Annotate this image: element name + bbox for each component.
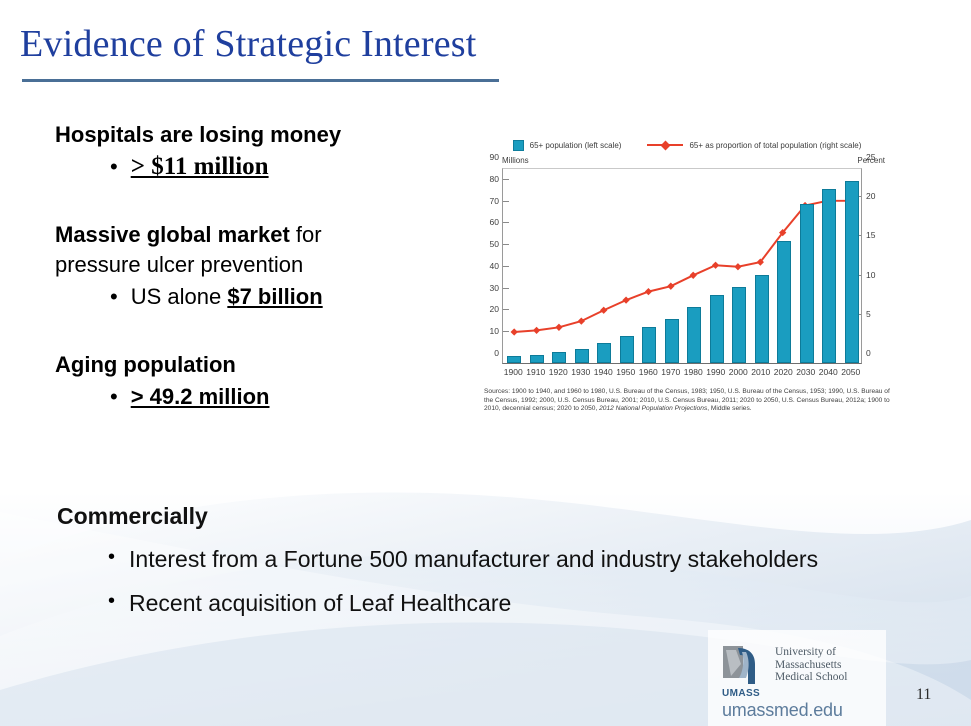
chart-bar [597, 343, 611, 363]
bullet-dot-icon: • [110, 382, 118, 412]
chart-bar [620, 336, 634, 363]
line-marker [667, 283, 674, 290]
title-underline-rule [22, 79, 499, 82]
bullet-item: • > $11 million [0, 152, 462, 182]
x-axis-tick-label: 2020 [774, 367, 793, 377]
umass-logo: University of Massachusetts Medical Scho… [708, 630, 886, 726]
bullet-text: US alone $7 billion [131, 282, 323, 312]
y-axis-left-tick: 10 [490, 326, 499, 336]
x-axis-tick-label: 1910 [526, 367, 545, 377]
line-marker [622, 297, 629, 304]
tick-mark [503, 222, 509, 223]
x-axis-tick-label: 2040 [819, 367, 838, 377]
x-axis-tick-label: 1990 [706, 367, 725, 377]
y-axis-right-tick: 20 [866, 191, 875, 201]
tick-mark [503, 309, 509, 310]
section-heading: Aging population [0, 350, 462, 380]
y-axis-left-label: Millions [502, 156, 529, 165]
section-heading: Massive global market for [0, 220, 462, 250]
x-axis-tick-label: 1930 [571, 367, 590, 377]
logo-line-2: Massachusetts [775, 659, 848, 672]
left-content-column: Hospitals are losing money • > $11 milli… [0, 120, 462, 412]
legend-item-line: 65+ as proportion of total population (r… [647, 141, 861, 150]
legend-label: 65+ population (left scale) [530, 141, 622, 150]
heading-regular-text: for [290, 222, 322, 247]
page-title: Evidence of Strategic Interest [20, 22, 477, 66]
section-aging: Aging population • > 49.2 million [0, 350, 462, 412]
heading-bold-text: Aging population [55, 352, 236, 377]
bullet-prefix-text: US alone [131, 284, 228, 309]
spacer [0, 312, 462, 350]
logo-row: University of Massachusetts Medical Scho… [722, 644, 848, 690]
chart-legend: 65+ population (left scale) 65+ as propo… [473, 137, 901, 153]
y-axis-left-tick: 70 [490, 196, 499, 206]
chart-bar [665, 319, 679, 363]
slide-number: 11 [916, 686, 931, 704]
source-italic-text: 2012 National Population Projections [599, 405, 707, 412]
line-marker [734, 263, 741, 270]
line-marker [511, 328, 518, 335]
bullet-item: • US alone $7 billion [0, 282, 462, 312]
bullet-text: > $11 million [131, 152, 269, 182]
section-continuation: pressure ulcer prevention [0, 250, 462, 280]
legend-label: 65+ as proportion of total population (r… [689, 141, 861, 150]
chart-source-note: Sources: 1900 to 1940, and 1960 to 1980,… [484, 388, 892, 414]
y-axis-left-tick: 90 [490, 152, 499, 162]
chart-bar [507, 356, 521, 363]
chart-bar [530, 355, 544, 363]
section-heading-commercially: Commercially [0, 500, 900, 532]
bullet-item: • > 49.2 million [0, 382, 462, 412]
chart-bar [800, 204, 814, 363]
x-axis-tick-label: 1980 [684, 367, 703, 377]
chart-plot-wrapper: 01020304050607080900510152025 1900191019… [473, 168, 901, 378]
bullet-dot-icon: • [110, 152, 118, 182]
line-marker [555, 324, 562, 331]
bullet-text: Recent acquisition of Leaf Healthcare [129, 586, 511, 620]
bullet-dot-icon: • [108, 542, 115, 573]
chart-bar [732, 287, 746, 363]
y-axis-right-tick: 10 [866, 270, 875, 280]
tick-mark [503, 288, 509, 289]
y-axis-left-tick: 50 [490, 239, 499, 249]
tick-mark [503, 244, 509, 245]
x-axis-tick-label: 1900 [504, 367, 523, 377]
y-axis-right-tick: 25 [866, 152, 875, 162]
x-axis-tick-label: 1970 [661, 367, 680, 377]
tick-mark [503, 266, 509, 267]
y-axis-right-tick: 15 [866, 230, 875, 240]
x-axis-tick-label: 1960 [639, 367, 658, 377]
y-axis-left-tick: 60 [490, 217, 499, 227]
population-chart: 65+ population (left scale) 65+ as propo… [473, 137, 901, 432]
bullet-item: • Interest from a Fortune 500 manufactur… [0, 542, 898, 576]
tick-mark [503, 201, 509, 202]
bullet-dot-icon: • [108, 586, 115, 617]
x-axis-tick-label: 2010 [751, 367, 770, 377]
chart-bar [822, 189, 836, 363]
x-axis-tick-label: 1950 [616, 367, 635, 377]
tick-mark [503, 179, 509, 180]
tick-mark [503, 331, 509, 332]
chart-bar [552, 352, 566, 363]
y-axis-left-tick: 0 [494, 348, 499, 358]
heading-bold-text: Massive global market [55, 222, 290, 247]
line-marker [645, 288, 652, 295]
spacer [0, 182, 462, 220]
legend-item-bar: 65+ population (left scale) [513, 140, 622, 151]
line-marker [712, 262, 719, 269]
bullet-item: • Recent acquisition of Leaf Healthcare [0, 586, 898, 620]
chart-bar [710, 295, 724, 363]
source-tail-text: , Middle series. [707, 405, 751, 412]
chart-plot-area: 01020304050607080900510152025 [502, 168, 862, 364]
y-axis-right-tick: 0 [866, 348, 871, 358]
x-axis-tick-label: 2000 [729, 367, 748, 377]
section-hospitals: Hospitals are losing money • > $11 milli… [0, 120, 462, 182]
y-axis-left-tick: 80 [490, 174, 499, 184]
legend-line-marker-icon [647, 141, 683, 150]
bullet-emphasis-text: $7 billion [227, 284, 322, 309]
umass-url: umassmed.edu [722, 700, 843, 721]
legend-bar-swatch-icon [513, 140, 524, 151]
y-axis-right-tick: 5 [866, 309, 871, 319]
x-axis-tick-label: 2030 [796, 367, 815, 377]
logo-wordblock: University of Massachusetts Medical Scho… [775, 644, 848, 684]
chart-bar [845, 181, 859, 363]
y-axis-left-tick: 20 [490, 304, 499, 314]
y-axis-left-tick: 40 [490, 261, 499, 271]
line-marker [533, 327, 540, 334]
chart-bar [777, 241, 791, 363]
line-marker [690, 272, 697, 279]
chart-bar [755, 275, 769, 363]
bottom-content-block: Commercially • Interest from a Fortune 5… [0, 500, 900, 620]
chart-bar [687, 307, 701, 363]
x-axis-tick-label: 1920 [549, 367, 568, 377]
chart-bar [642, 327, 656, 363]
bullet-dot-icon: • [110, 282, 118, 312]
line-marker [578, 317, 585, 324]
line-marker [600, 307, 607, 314]
umass-monogram-icon [722, 644, 768, 690]
chart-bar [575, 349, 589, 363]
x-axis-tick-label: 2050 [841, 367, 860, 377]
section-heading: Hospitals are losing money [0, 120, 462, 150]
bullet-text: > 49.2 million [131, 382, 270, 412]
section-market: Massive global market for pressure ulcer… [0, 220, 462, 312]
umass-wordmark: UMASS [722, 688, 760, 699]
y-axis-left-tick: 30 [490, 283, 499, 293]
bullet-text: Interest from a Fortune 500 manufacturer… [129, 542, 818, 576]
logo-line-1: University of [775, 646, 848, 659]
x-axis-tick-label: 1940 [594, 367, 613, 377]
logo-line-3: Medical School [775, 671, 848, 684]
heading-bold-text: Hospitals are losing money [55, 122, 341, 147]
